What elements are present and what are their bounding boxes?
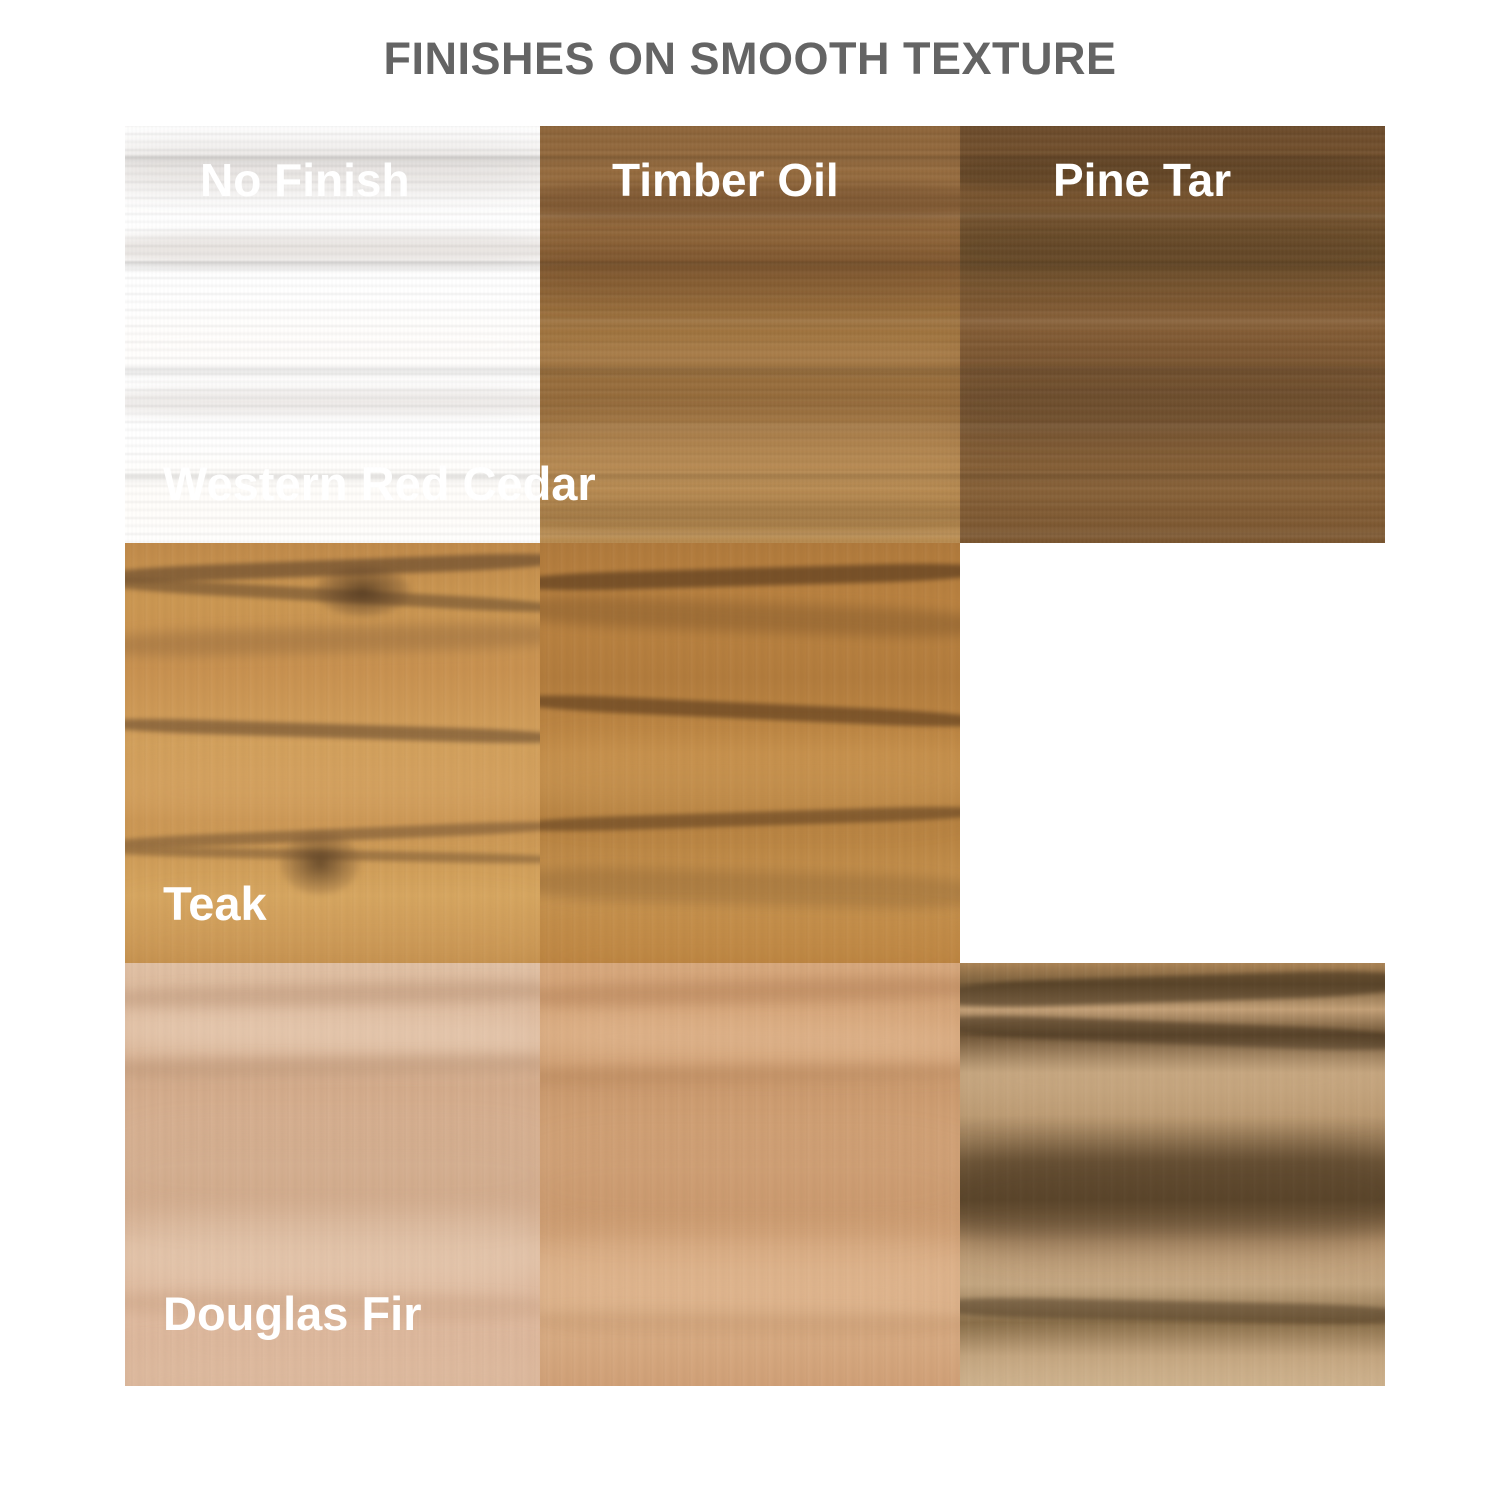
swatch-teak-pine-tar-empty — [960, 543, 1385, 963]
row-label-teak: Teak — [163, 876, 267, 931]
row-label-western-red-cedar: Western Red Cedar — [163, 456, 596, 511]
swatch-fir-timber-oil[interactable] — [540, 963, 960, 1386]
page-title: FINISHES ON SMOOTH TEXTURE — [0, 33, 1500, 85]
swatch-fir-pine-tar[interactable] — [960, 963, 1385, 1386]
wood-texture-teak-timber-oil — [540, 543, 960, 963]
swatch-teak-timber-oil[interactable] — [540, 543, 960, 963]
column-label-pine-tar: Pine Tar — [1053, 153, 1231, 207]
wood-texture-fir-pine-tar — [960, 963, 1385, 1386]
column-label-no-finish: No Finish — [200, 153, 410, 207]
finish-swatch-grid: Western Red Cedar Teak — [125, 126, 1385, 1386]
wood-texture-fir-timber-oil — [540, 963, 960, 1386]
row-label-douglas-fir: Douglas Fir — [163, 1286, 422, 1341]
column-label-timber-oil: Timber Oil — [612, 153, 839, 207]
